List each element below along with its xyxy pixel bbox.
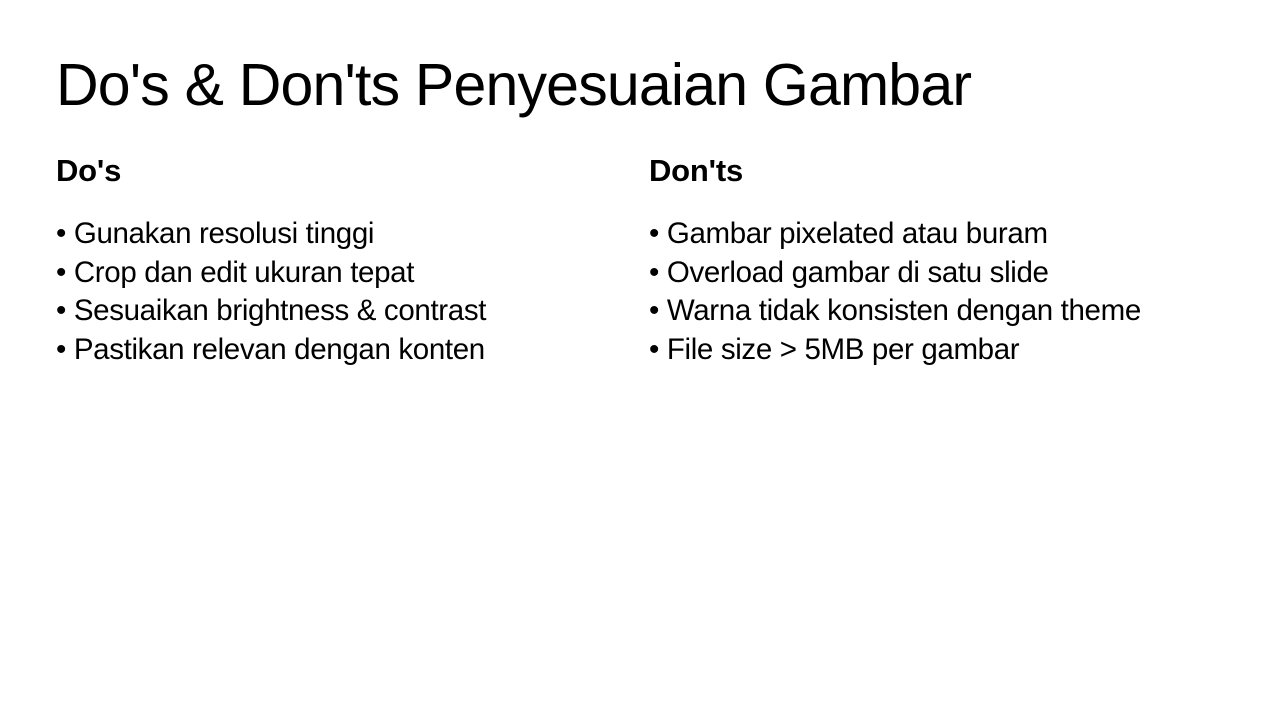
bullet-list-donts: • Gambar pixelated atau buram • Overload…	[649, 215, 1197, 369]
list-item: • Gunakan resolusi tinggi	[56, 215, 597, 254]
list-item: • Crop dan edit ukuran tepat	[56, 254, 597, 293]
bullet-point-icon: •	[649, 294, 659, 327]
bullet-point-icon: •	[56, 256, 66, 289]
list-item-label: Pastikan relevan dengan konten	[74, 333, 485, 366]
list-item: • Sesuaikan brightness & contrast	[56, 292, 597, 331]
list-item-label: Crop dan edit ukuran tepat	[74, 256, 414, 289]
list-item: • Warna tidak konsisten dengan theme	[649, 292, 1197, 331]
slide-canvas: Do's & Don'ts Penyesuaian Gambar Do's • …	[0, 0, 1280, 720]
bullet-point-icon: •	[56, 294, 66, 327]
list-item: • Pastikan relevan dengan konten	[56, 331, 597, 370]
bullet-point-icon: •	[649, 217, 659, 250]
page-title: Do's & Don'ts Penyesuaian Gambar	[56, 52, 1226, 118]
list-item-label: Warna tidak konsisten dengan theme	[667, 294, 1141, 327]
bullet-point-icon: •	[56, 333, 66, 366]
columns-container: Do's • Gunakan resolusi tinggi • Crop da…	[0, 152, 1280, 369]
list-item: • Overload gambar di satu slide	[649, 254, 1197, 293]
list-item-label: Gunakan resolusi tinggi	[74, 217, 374, 250]
list-item-label: File size > 5MB per gambar	[667, 333, 1019, 366]
bullet-list-dos: • Gunakan resolusi tinggi • Crop dan edi…	[56, 215, 597, 369]
list-item: • File size > 5MB per gambar	[649, 331, 1197, 370]
list-item-label: Sesuaikan brightness & contrast	[74, 294, 486, 327]
column-heading-dos: Do's	[56, 152, 597, 189]
list-item-label: Gambar pixelated atau buram	[667, 217, 1048, 250]
bullet-point-icon: •	[649, 256, 659, 289]
column-heading-donts: Don'ts	[649, 152, 1197, 189]
column-donts: Don'ts • Gambar pixelated atau buram • O…	[597, 152, 1197, 369]
bullet-point-icon: •	[649, 333, 659, 366]
list-item: • Gambar pixelated atau buram	[649, 215, 1197, 254]
column-dos: Do's • Gunakan resolusi tinggi • Crop da…	[0, 152, 597, 369]
list-item-label: Overload gambar di satu slide	[667, 256, 1049, 289]
bullet-point-icon: •	[56, 217, 66, 250]
